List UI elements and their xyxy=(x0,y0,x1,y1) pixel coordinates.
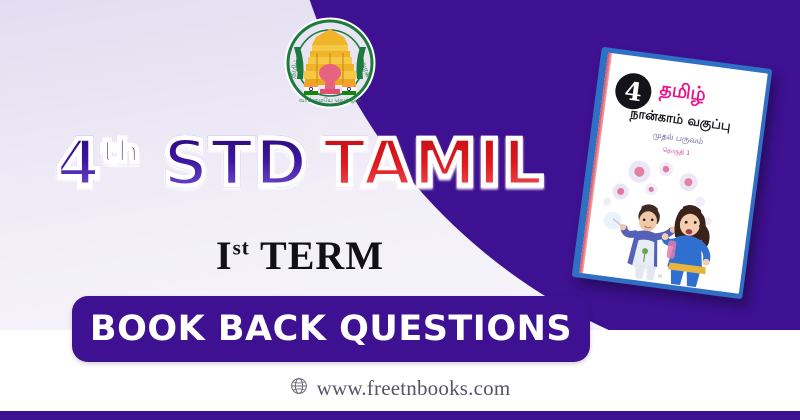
term-ordinal: I xyxy=(216,233,233,278)
textbook-subject-title: தமிழ் xyxy=(658,78,707,109)
svg-text:வாய்மையே வெல்லும்: வாய்மையே வெல்லும் xyxy=(299,97,361,104)
textbook-front-face: 4 தமிழ் நான்காம் வகுப்பு முதல் பருவம் தொ… xyxy=(579,53,768,294)
tamil-nadu-emblem-icon: வாய்மையே வெல்லும் தமிழ் அரசு xyxy=(284,13,376,113)
term-text: TERM xyxy=(250,233,384,278)
headline: 4th STDTAMIL xyxy=(0,132,600,196)
headline-grade-suffix: th xyxy=(101,133,139,171)
globe-icon xyxy=(290,377,308,400)
headline-standard: 4th STD xyxy=(56,132,309,196)
cta-label: BOOK BACK QUESTIONS xyxy=(90,309,572,349)
website-url: www.freetnbooks.com xyxy=(317,376,511,401)
bottom-accent-bar xyxy=(0,411,800,420)
footer: www.freetnbooks.com xyxy=(0,376,800,401)
headline-subject: TAMIL xyxy=(323,132,545,196)
headline-grade-number: 4 xyxy=(56,127,102,201)
textbook-cover: 4 தமிழ் நான்காம் வகுப்பு முதல் பருவம் தொ… xyxy=(572,47,773,299)
term-ordinal-suffix: st xyxy=(233,236,250,260)
headline-standard-label: STD xyxy=(139,127,308,201)
term-label: Ist TERM xyxy=(0,232,600,279)
book-back-questions-button[interactable]: BOOK BACK QUESTIONS xyxy=(72,296,590,362)
promo-banner: வாய்மையே வெல்லும் தமிழ் அரசு 4th STDTAMI… xyxy=(0,0,800,420)
